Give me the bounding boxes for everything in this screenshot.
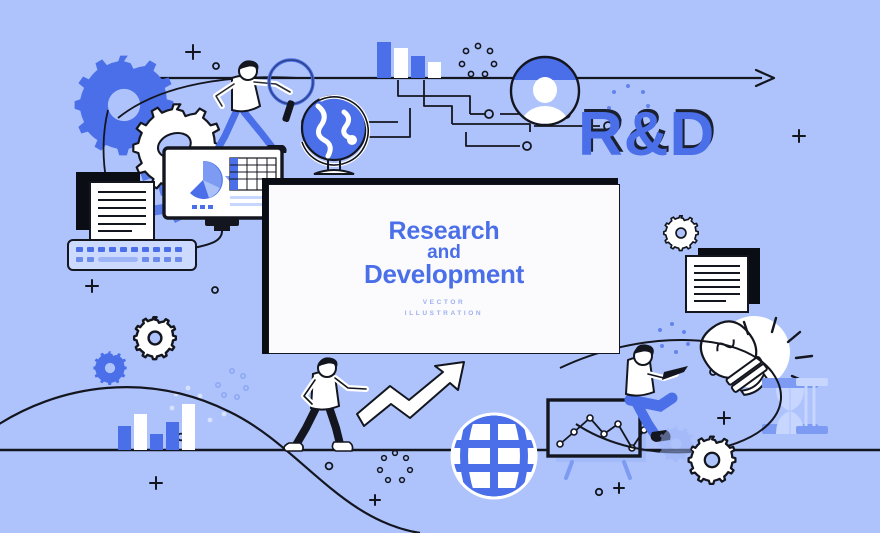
title-block: Research and Development (364, 219, 524, 287)
panel-subtitle: VECTOR ILLUSTRATION (405, 298, 483, 318)
dotted-ring-bottom (378, 451, 413, 483)
rd-wordmark-text: R&D (578, 100, 715, 169)
gear-white-bottom (689, 437, 736, 484)
avatar-circle (505, 50, 587, 146)
dotted-ring-top (459, 43, 496, 76)
sweeping-curve (0, 387, 420, 533)
title-panel: Research and Development VECTOR ILLUSTRA… (268, 184, 620, 354)
title-line-development: Development (364, 261, 524, 287)
person-with-magnifier (207, 60, 290, 157)
subtitle-line-vector: VECTOR (405, 298, 483, 308)
rd-wordmark: R&D R&D (578, 104, 715, 166)
gear-small-white-right (664, 216, 698, 251)
person-pointing-at-arrow (284, 357, 366, 451)
bar-chart-top (377, 42, 441, 78)
hourglass (762, 378, 828, 434)
dotted-ring-faint (216, 369, 248, 399)
gear-small-white-left (134, 317, 176, 359)
monitor-line-chart (548, 400, 647, 478)
keyboard (68, 240, 196, 270)
bar-chart-bottom (118, 404, 195, 450)
growth-arrow (357, 362, 464, 426)
globe-wireframe (452, 414, 536, 498)
document-stack-right (686, 248, 760, 312)
globe-on-stand (302, 96, 368, 174)
hourglass-frame (806, 386, 814, 426)
subtitle-line-illustration: ILLUSTRATION (405, 309, 483, 319)
document-stack-left (76, 172, 154, 240)
gear-small-blue-left (93, 351, 126, 385)
title-line-research: Research (364, 219, 524, 244)
illustration-canvas: Research and Development VECTOR ILLUSTRA… (0, 0, 880, 533)
dot-cluster-bottomleft (170, 386, 227, 423)
